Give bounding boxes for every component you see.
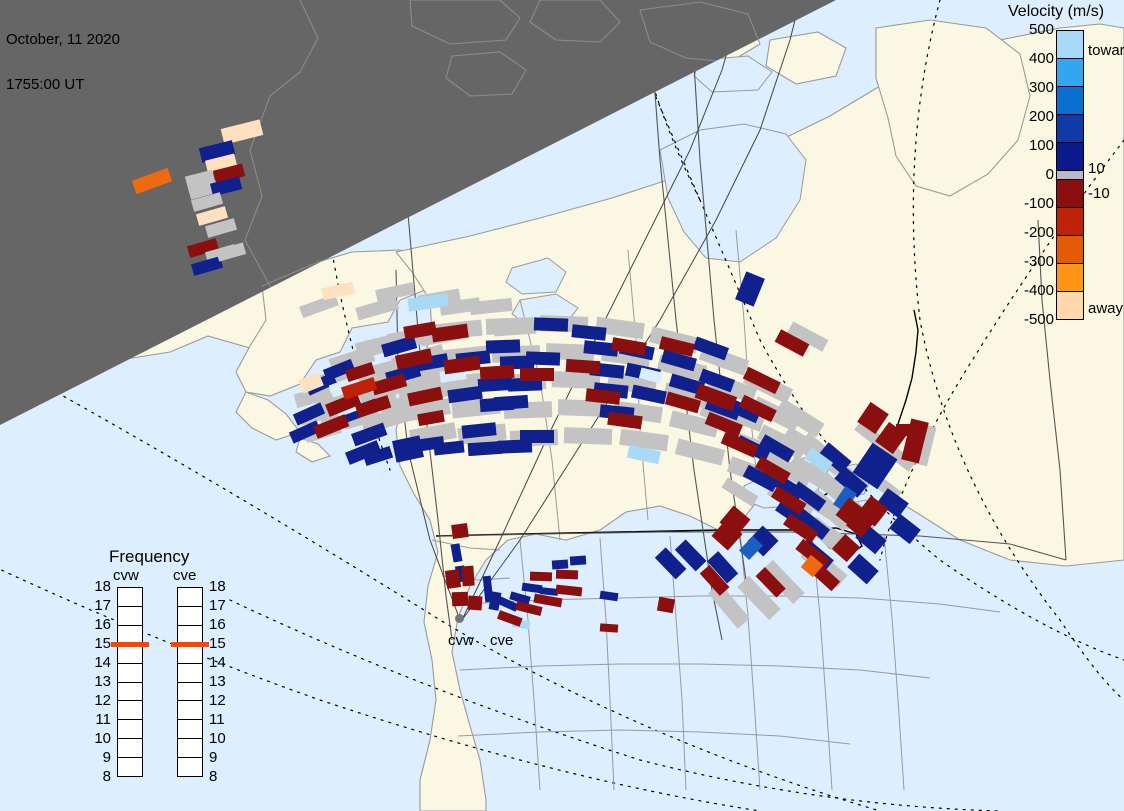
colorbar-label-toward: toward: [1088, 42, 1124, 59]
frequency-tick-cve-9: 9: [209, 749, 233, 766]
frequency-tick-cve-18: 18: [209, 578, 233, 595]
frequency-tick-cvw-17: 17: [87, 597, 111, 614]
site-label-cve: cve: [490, 632, 513, 649]
frequency-legend: Frequency cvw18171615141312111098cve1817…: [85, 547, 245, 797]
colorbar-tick--500: -500: [1024, 311, 1054, 328]
frequency-column-label-cvw: cvw: [113, 567, 139, 584]
frequency-tick-cvw-8: 8: [87, 768, 111, 785]
colorbar-segment--250: [1057, 236, 1083, 264]
frequency-tick-cve-11: 11: [209, 711, 233, 728]
frequency-tick-cvw-18: 18: [87, 578, 111, 595]
colorbar-tick-0: 0: [1046, 166, 1054, 183]
frequency-marker-cvw: [111, 642, 149, 647]
colorbar-label-pos-threshold: 10: [1088, 160, 1105, 177]
colorbar-tick--400: -400: [1024, 282, 1054, 299]
colorbar-tick-200: 200: [1029, 108, 1054, 125]
colorbar-segment--150: [1057, 208, 1083, 236]
colorbar-segment-50: [1057, 143, 1083, 171]
superdarn-velocity-map: October, 11 2020 1755:00 UT Velocity (m/…: [0, 0, 1124, 811]
frequency-marker-cve: [171, 642, 209, 647]
colorbar-tick--100: -100: [1024, 195, 1054, 212]
frequency-tick-cve-13: 13: [209, 673, 233, 690]
colorbar-label-away: away: [1088, 300, 1123, 317]
frequency-column-label-cve: cve: [173, 567, 196, 584]
frequency-tick-cve-8: 8: [209, 768, 233, 785]
colorbar-tick-400: 400: [1029, 50, 1054, 67]
frequency-tick-cvw-11: 11: [87, 711, 111, 728]
colorbar-title: Velocity (m/s): [1008, 3, 1104, 21]
frequency-tick-cvw-13: 13: [87, 673, 111, 690]
site-label-cvw: cvw: [448, 632, 474, 649]
frequency-tick-cvw-15: 15: [87, 635, 111, 652]
colorbar-segment--450: [1057, 292, 1083, 319]
colorbar-label-neg-threshold: -10: [1088, 185, 1110, 202]
frequency-tick-cve-16: 16: [209, 616, 233, 633]
colorbar-segment-0: [1057, 171, 1083, 180]
colorbar-segment-350: [1057, 59, 1083, 87]
frequency-tick-cve-17: 17: [209, 597, 233, 614]
colorbar-segment-150: [1057, 115, 1083, 143]
frequency-tick-cvw-14: 14: [87, 654, 111, 671]
frequency-tick-cvw-12: 12: [87, 692, 111, 709]
frequency-tick-cvw-16: 16: [87, 616, 111, 633]
frequency-tick-cvw-9: 9: [87, 749, 111, 766]
colorbar-tick--300: -300: [1024, 253, 1054, 270]
timestamp-block: October, 11 2020 1755:00 UT: [6, 2, 120, 122]
colorbar-tick-100: 100: [1029, 137, 1054, 154]
frequency-tick-cve-15: 15: [209, 635, 233, 652]
colorbar-segment-450: [1057, 31, 1083, 59]
frequency-tick-cvw-10: 10: [87, 730, 111, 747]
colorbar-gradient: [1056, 30, 1084, 320]
frequency-tick-cve-14: 14: [209, 654, 233, 671]
colorbar-tick-500: 500: [1029, 21, 1054, 38]
colorbar-segment--50: [1057, 180, 1083, 208]
time-text: 1755:00 UT: [6, 77, 120, 92]
frequency-tick-cve-10: 10: [209, 730, 233, 747]
frequency-tick-cve-12: 12: [209, 692, 233, 709]
velocity-colorbar: Velocity (m/s) 5004003002001000-100-200-…: [1000, 0, 1124, 340]
frequency-bar-cvw: [117, 587, 143, 777]
colorbar-segment-250: [1057, 87, 1083, 115]
radar-site-marker: [455, 614, 464, 623]
frequency-bar-cve: [177, 587, 203, 777]
colorbar-tick-300: 300: [1029, 79, 1054, 96]
frequency-title: Frequency: [109, 547, 189, 567]
colorbar-segment--350: [1057, 264, 1083, 292]
colorbar-tick--200: -200: [1024, 224, 1054, 241]
date-text: October, 11 2020: [6, 32, 120, 47]
